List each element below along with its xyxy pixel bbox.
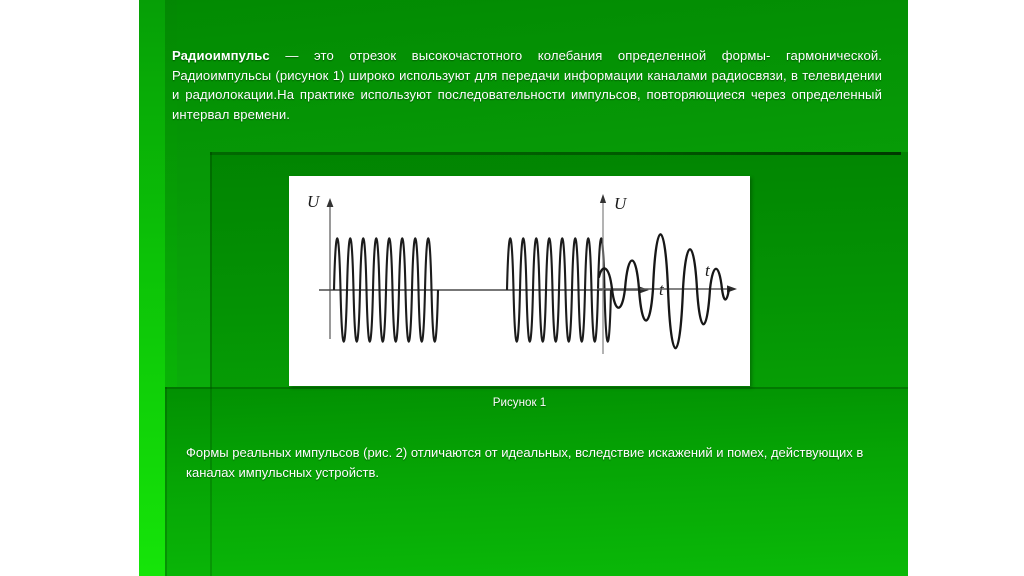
right-plot-group: U t [597,194,737,354]
left-plot-group: U t [307,192,665,342]
right-plot-waveform [599,234,729,348]
figure-caption: Рисунок 1 [289,396,750,409]
right-plot-y-axis-arrow [600,194,606,203]
intro-paragraph: Радиоимпульс — это отрезок высокочастотн… [172,46,882,124]
left-plot-y-axis-arrow [327,198,334,207]
figure-image-card: U t U [289,176,750,386]
intro-body: — это отрезок высокочастотного колебания… [172,48,882,122]
left-plot-x-axis-arrow [639,286,649,293]
bottom-backdrop-top-rule [165,387,908,389]
left-plot-y-axis-label: U [307,192,321,211]
intro-term: Радиоимпульс [172,48,270,63]
right-plot-x-axis-label: t [705,261,711,280]
figure-backdrop-top-rule [210,152,901,155]
bottom-backdrop-left-rule [165,387,167,576]
figure-svg: U t U [289,176,750,386]
screenshot-canvas: Радиоимпульс — это отрезок высокочастотн… [0,0,1024,576]
presentation-slide: Радиоимпульс — это отрезок высокочастотн… [139,0,908,576]
bottom-paragraph: Формы реальных импульсов (рис. 2) отлича… [186,443,886,482]
slide-left-glow-band [139,0,165,576]
right-plot-y-axis-label: U [614,194,628,213]
